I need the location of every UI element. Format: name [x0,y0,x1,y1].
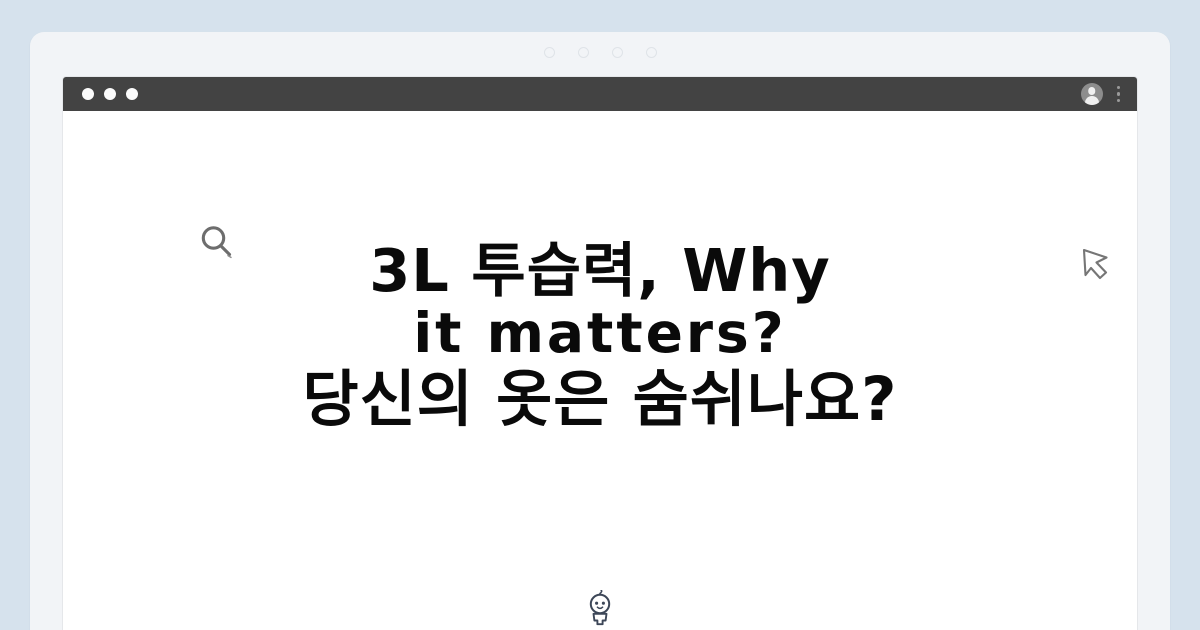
screenshot-stage: 3L 투습력, Why it matters? 당신의 옷은 숨쉬나요? [0,0,1200,630]
page-headline: 3L 투습력, Why it matters? 당신의 옷은 숨쉬나요? [63,241,1137,430]
headline-line-3: 당신의 옷은 숨쉬나요? [63,369,1137,430]
close-button[interactable] [82,88,94,100]
page-content: 3L 투습력, Why it matters? 당신의 옷은 숨쉬나요? [63,111,1137,630]
kebab-dot-2 [1117,92,1120,95]
window-controls[interactable] [82,88,138,100]
maximize-button[interactable] [126,88,138,100]
title-bar-right-group [1081,83,1123,105]
headline-line-2: it matters? [63,306,1137,361]
kebab-dot-1 [1117,86,1120,89]
indicator-dot-row [30,47,1170,58]
account-avatar-icon[interactable] [1081,83,1103,105]
mascot-character-icon [584,590,616,626]
browser-window: 3L 투습력, Why it matters? 당신의 옷은 숨쉬나요? [63,77,1137,630]
indicator-dot-1 [544,47,555,58]
kebab-menu-icon[interactable] [1114,84,1123,104]
indicator-dot-2 [578,47,589,58]
indicator-dot-4 [646,47,657,58]
browser-title-bar [63,77,1137,111]
indicator-dot-3 [612,47,623,58]
kebab-dot-3 [1117,99,1120,102]
minimize-button[interactable] [104,88,116,100]
headline-line-1: 3L 투습력, Why [63,241,1137,300]
device-card: 3L 투습력, Why it matters? 당신의 옷은 숨쉬나요? [30,32,1170,630]
